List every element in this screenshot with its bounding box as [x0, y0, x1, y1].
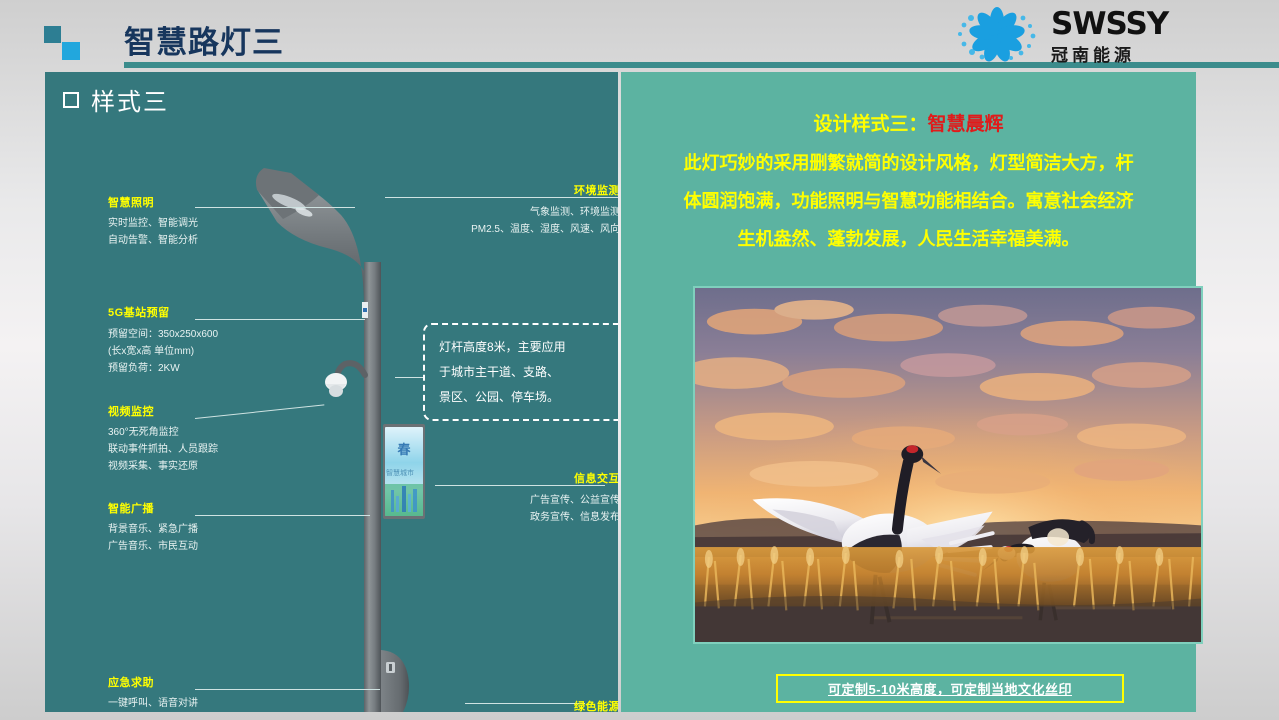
design-style-accent: 智慧晨辉: [928, 114, 1004, 135]
callout-line: 景区、公园、停车场。: [439, 385, 612, 410]
brand-logo: SWSSY 冠南能源: [951, 6, 1221, 64]
brand-subtitle: 冠南能源: [1051, 41, 1168, 66]
logo-square-blue-icon: [62, 42, 80, 60]
customization-banner-text: 可定制5-10米高度，可定制当地文化丝印: [828, 679, 1072, 698]
page-header: 智慧路灯三 SWS: [0, 0, 1279, 68]
callout-line: 于城市主干道、支路、: [439, 360, 612, 385]
annotation-smart-lighting: 智慧照明 实时监控、智能调光 自动告警、智能分析: [108, 194, 198, 249]
annotation-line: 实时监控、智能调光: [108, 215, 198, 232]
annotation-emergency-help: 应急求助 一键呼叫、语音对讲 视频通话、紧急报警: [108, 674, 198, 712]
annotation-line: 政务宣传、信息发布: [375, 509, 618, 526]
annotation-title: 5G基站预留: [108, 304, 218, 320]
header-logo-squares: [44, 26, 84, 60]
leader-line-emergency: [195, 689, 380, 690]
brand-name: SWSSY: [1051, 6, 1168, 42]
annotation-line: 自动告警、智能分析: [108, 232, 198, 249]
annotation-line: 广告音乐、市民互动: [108, 538, 198, 555]
annotation-line: 360°无死角监控: [108, 424, 218, 441]
annotation-line: 广告宣传、公益宣传: [375, 492, 618, 509]
annotation-title: 智慧照明: [108, 194, 198, 210]
leader-line-5g: [195, 319, 365, 320]
annotation-line: 预留空间：350x250x600: [108, 326, 218, 343]
design-style-heading: 设计样式三：智慧晨辉: [621, 109, 1196, 136]
description-line: 体圆润饱满，功能照明与智慧功能相结合。寓意社会经济: [641, 182, 1176, 220]
annotation-title: 环境监测: [310, 182, 618, 198]
style-label-text: 样式三: [91, 82, 169, 117]
annotation-line: 视频采集、事实还原: [108, 458, 218, 475]
description-panel: 设计样式三：智慧晨辉 此灯巧妙的采用删繁就简的设计风格，灯型简洁大方，杆 体圆润…: [621, 72, 1196, 712]
swssy-flower-mark-icon: [951, 6, 1043, 64]
annotation-title: 绿色能源: [395, 698, 618, 712]
annotation-env-monitoring: 环境监测 气象监测、环境监测 PM2.5、温度、湿度、风速、风向: [310, 182, 618, 238]
annotation-green-energy: 绿色能源 汽车充电 手机充电: [395, 698, 618, 712]
annotation-video-surveillance: 视频监控 360°无死角监控 联动事件抓拍、人员跟踪 视频采集、事实还原: [108, 403, 218, 475]
description-line: 此灯巧妙的采用删繁就简的设计风格，灯型简洁大方，杆: [641, 144, 1176, 182]
annotation-line: 预留负荷：2KW: [108, 360, 218, 377]
annotation-smart-broadcast: 智能广播 背景音乐、紧急广播 广告音乐、市民互动: [108, 500, 198, 555]
leader-line-broadcast: [195, 515, 370, 516]
annotation-title: 视频监控: [108, 403, 218, 419]
annotation-line: 联动事件抓拍、人员跟踪: [108, 441, 218, 458]
crane-sunset-photo: [695, 288, 1201, 642]
callout-line: 灯杆高度8米，主要应用: [439, 335, 612, 360]
page-title: 智慧路灯三: [124, 17, 284, 62]
leader-line-callout: [395, 377, 425, 378]
design-description: 此灯巧妙的采用删繁就简的设计风格，灯型简洁大方，杆 体圆润饱满，功能照明与智慧功…: [641, 144, 1176, 258]
annotation-title: 智能广播: [108, 500, 198, 516]
logo-square-dark-icon: [44, 26, 61, 43]
product-diagram-panel: 样式三: [45, 72, 618, 712]
annotation-line: 一键呼叫、语音对讲: [108, 695, 198, 712]
annotation-line: 背景音乐、紧急广播: [108, 521, 198, 538]
application-callout-box: 灯杆高度8米，主要应用 于城市主干道、支路、 景区、公园、停车场。: [423, 323, 618, 421]
annotation-line: (长x宽x高 单位mm): [108, 343, 218, 360]
customization-banner: 可定制5-10米高度，可定制当地文化丝印: [776, 674, 1124, 703]
style-label: 样式三: [63, 82, 169, 117]
annotation-title: 信息交互: [375, 470, 618, 486]
design-style-prefix: 设计样式三：: [813, 114, 927, 135]
annotation-line: PM2.5、温度、湿度、风速、风向: [310, 221, 618, 238]
annotation-info-interaction: 信息交互 广告宣传、公益宣传 政务宣传、信息发布: [375, 470, 618, 526]
description-line: 生机盎然、蓬勃发展，人民生活幸福美满。: [641, 220, 1176, 258]
svg-text:春: 春: [396, 442, 411, 457]
crane-sunset-photo-frame: [693, 286, 1203, 644]
annotation-5g-base-station: 5G基站预留 预留空间：350x250x600 (长x宽x高 单位mm) 预留负…: [108, 304, 218, 377]
bullet-square-icon: [63, 92, 79, 108]
annotation-title: 应急求助: [108, 674, 198, 690]
annotation-line: 气象监测、环境监测: [310, 204, 618, 221]
